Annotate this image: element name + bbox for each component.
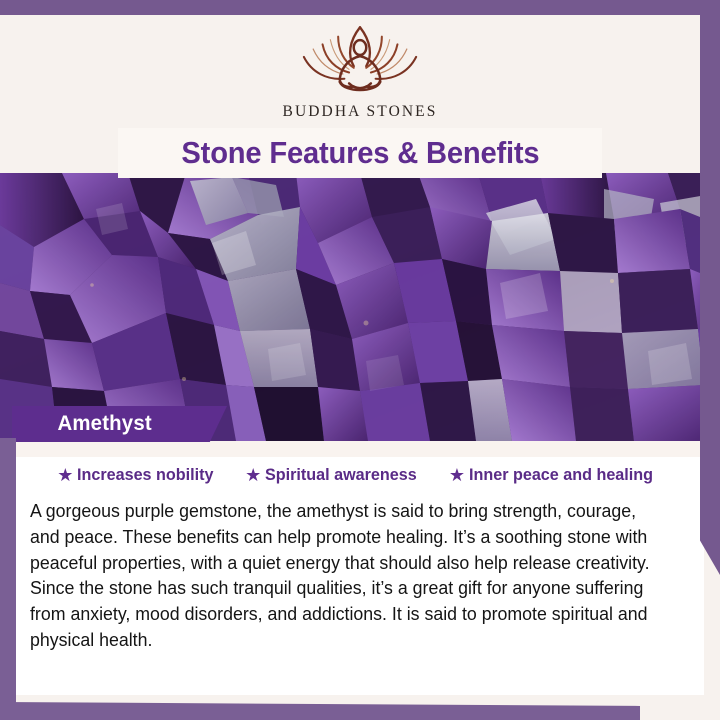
- feature-item: ★ Inner peace and healing: [449, 465, 663, 485]
- feature-label: Increases nobility: [77, 465, 213, 485]
- feature-label: Spiritual awareness: [265, 465, 417, 485]
- frame-band-top: [0, 0, 720, 15]
- stone-features-poster: Amethyst ★ Increases nobility ★ Spiritua…: [0, 0, 720, 720]
- feature-item: ★ Spiritual awareness: [245, 465, 425, 485]
- frame-band-left: [0, 438, 16, 720]
- star-icon: ★: [449, 466, 465, 484]
- star-icon: ★: [57, 466, 73, 484]
- amethyst-crystal-photo: [0, 173, 720, 441]
- lotus-meditation-icon: [280, 21, 440, 99]
- brand-name: BUDDHA STONES: [0, 103, 720, 121]
- title-plate: Stone Features & Benefits: [118, 128, 602, 178]
- card-top-edge: [16, 441, 704, 457]
- content-card: ★ Increases nobility ★ Spiritual awarene…: [16, 441, 704, 695]
- stone-name-label: Amethyst: [57, 412, 151, 436]
- brand-logo: BUDDHA STONES: [0, 21, 720, 121]
- feature-label: Inner peace and healing: [469, 465, 653, 485]
- frame-band-bottom: [0, 702, 640, 720]
- feature-item: ★ Increases nobility: [57, 465, 221, 485]
- frame-band-right: [700, 0, 720, 575]
- star-icon: ★: [245, 466, 261, 484]
- page-title: Stone Features & Benefits: [181, 135, 539, 171]
- stone-description: A gorgeous purple gemstone, the amethyst…: [30, 498, 666, 653]
- stone-name-banner: Amethyst: [12, 406, 227, 442]
- feature-list: ★ Increases nobility ★ Spiritual awarene…: [16, 465, 704, 485]
